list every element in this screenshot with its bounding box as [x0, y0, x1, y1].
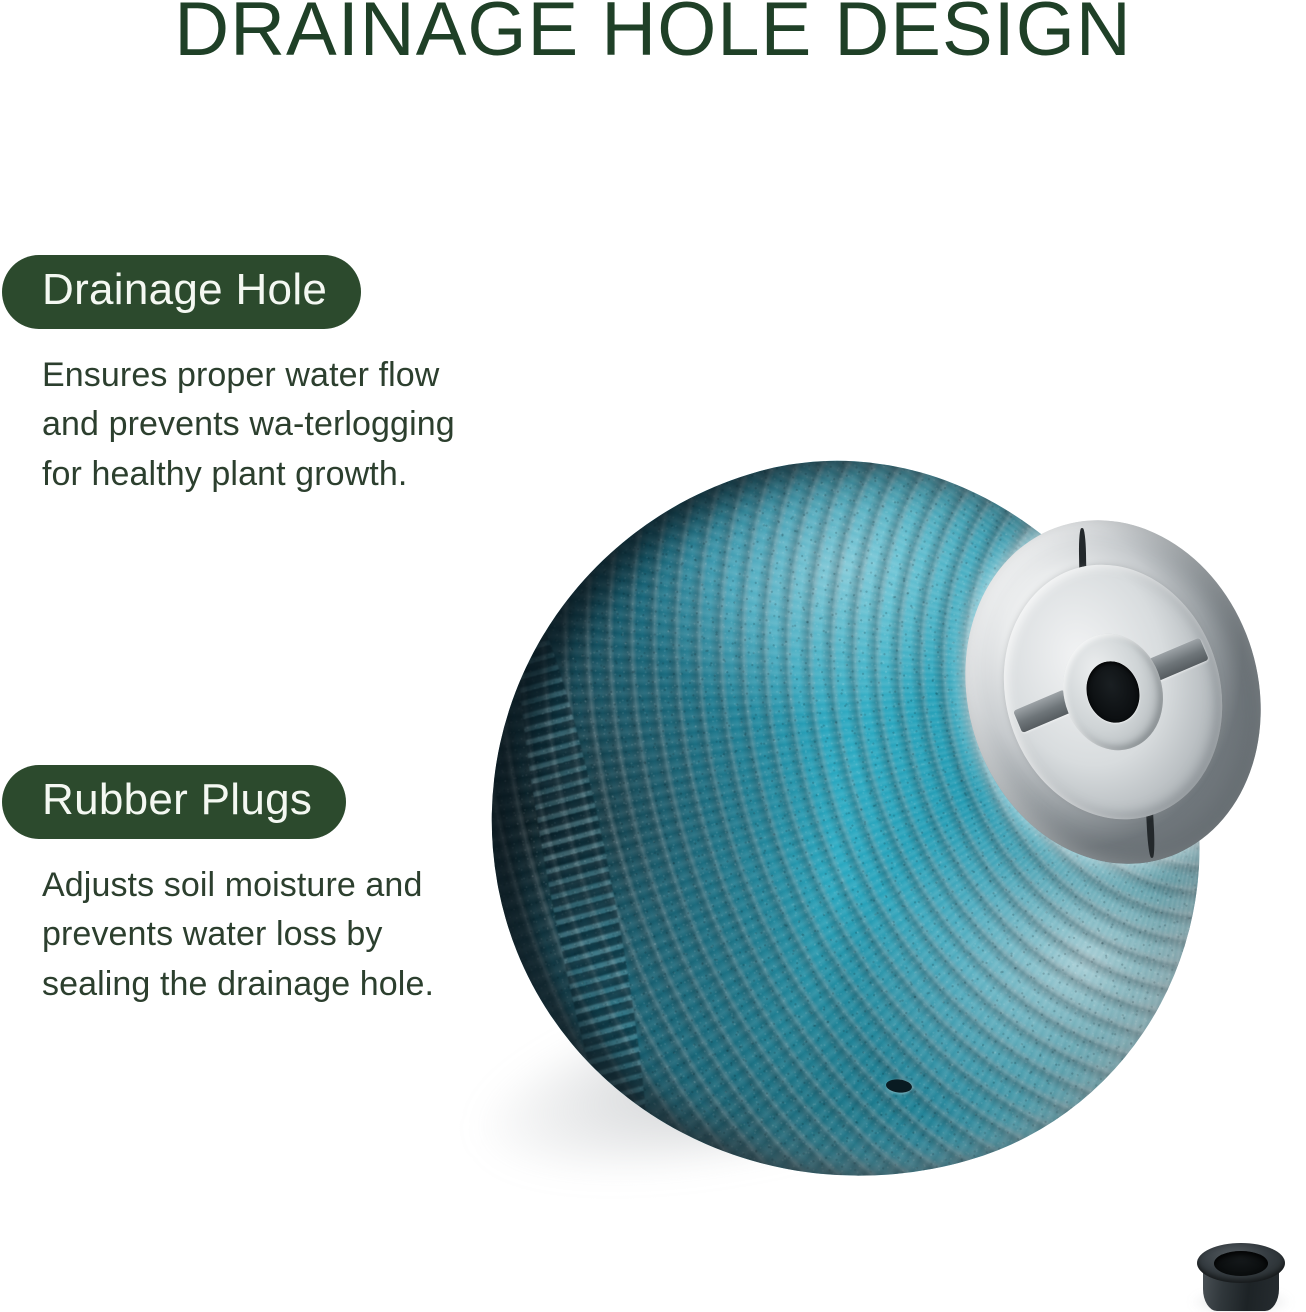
infographic-page: DRAINAGE HOLE DESIGN Drainage Hole Ensur…	[0, 0, 1306, 1312]
product-photo	[430, 400, 1306, 1312]
description-drainage-hole: Ensures proper water flow and prevents w…	[42, 351, 462, 499]
callout-drainage-hole: Drainage Hole Ensures proper water flow …	[0, 255, 470, 499]
rubber-plug	[1197, 1243, 1285, 1309]
page-title: DRAINAGE HOLE DESIGN	[0, 0, 1306, 73]
description-rubber-plugs: Adjusts soil moisture and prevents water…	[42, 861, 472, 1009]
badge-rubber-plugs: Rubber Plugs	[2, 765, 346, 839]
badge-drainage-hole: Drainage Hole	[2, 255, 361, 329]
rubber-plug-bore	[1214, 1251, 1268, 1276]
callout-rubber-plugs: Rubber Plugs Adjusts soil moisture and p…	[0, 765, 470, 1009]
